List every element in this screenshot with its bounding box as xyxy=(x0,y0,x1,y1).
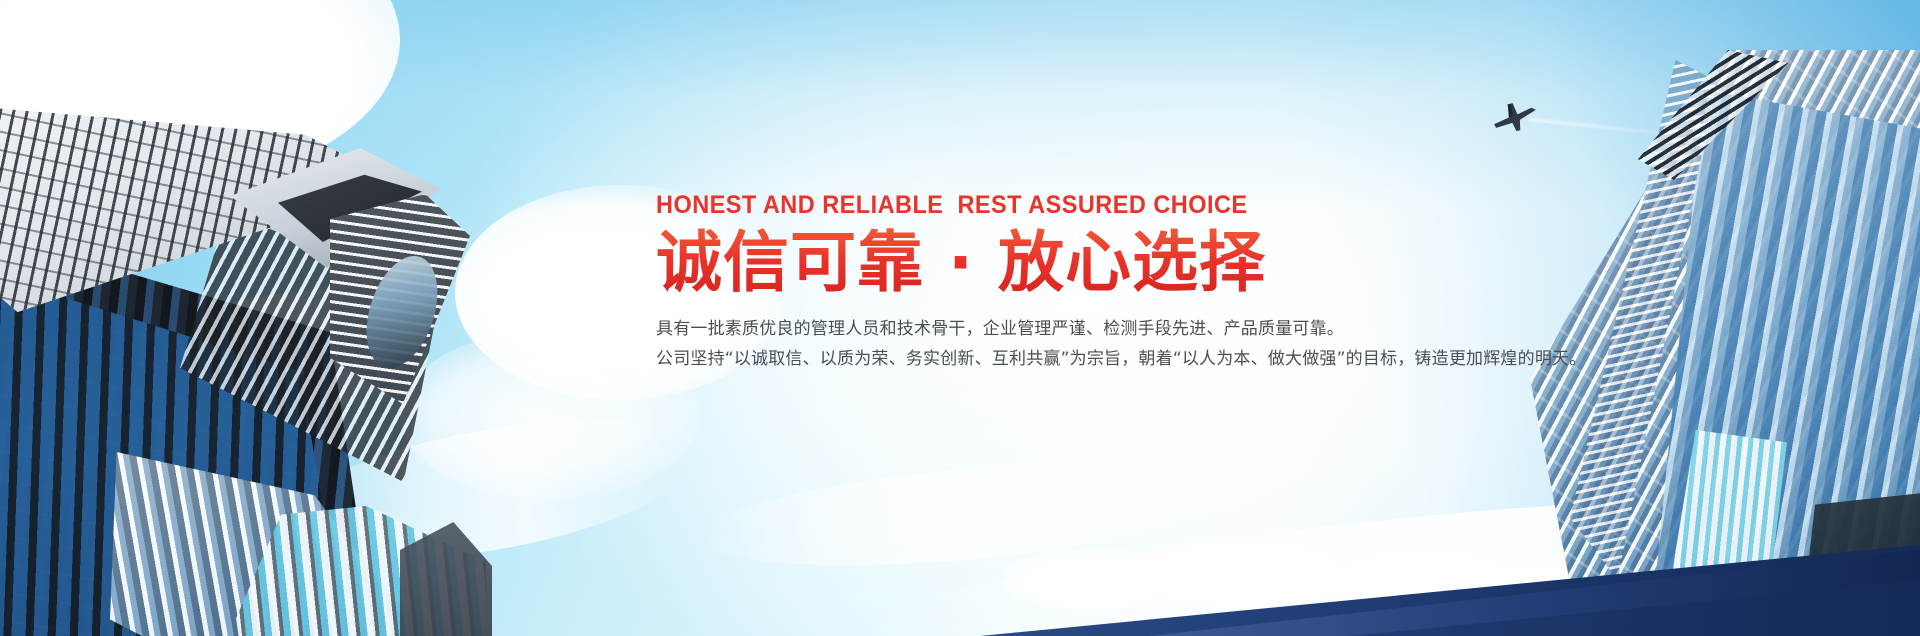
banner-headline: 诚信可靠 · 放心选择 xyxy=(656,227,1396,298)
left-skyscraper-photo xyxy=(0,86,480,636)
right-skyscraper-photo xyxy=(1500,50,1920,636)
banner-copy: HONEST AND RELIABLE REST ASSURED CHOICE … xyxy=(656,192,1396,374)
hero-banner: HONEST AND RELIABLE REST ASSURED CHOICE … xyxy=(0,0,1920,636)
banner-body-line-2: 公司坚持“以诚取信、以质为荣、务实创新、互利共赢”为宗旨，朝着“以人为本、做大做… xyxy=(656,344,1396,374)
banner-body-line-1: 具有一批素质优良的管理人员和技术骨干，企业管理严谨、检测手段先进、产品质量可靠。 xyxy=(656,314,1396,344)
banner-eyebrow: HONEST AND RELIABLE REST ASSURED CHOICE xyxy=(656,192,1352,220)
